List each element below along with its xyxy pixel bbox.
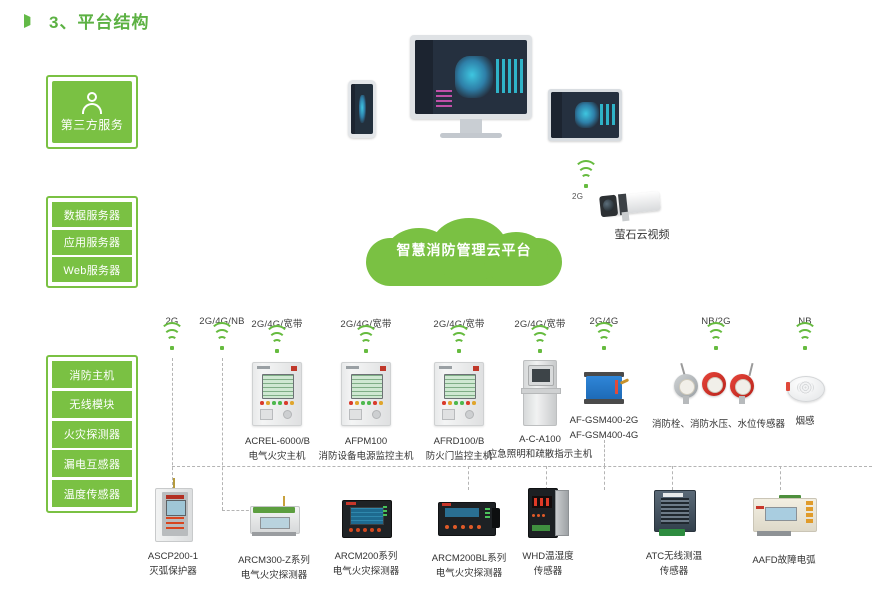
camera-network-label: 2G (572, 192, 583, 201)
top-column-afgsm400[interactable]: 2G/4G AF-GSM400-2G AF-GSM400-4G (562, 316, 646, 443)
dinrail-device-icon (232, 502, 316, 536)
page-title: 3、平台结构 (24, 8, 149, 33)
device-name: 传感器 (644, 564, 704, 579)
page-title-text: 3、平台结构 (49, 8, 149, 33)
cabinet-icon (422, 362, 496, 426)
top-column-2: 2G/4G/NB (196, 316, 248, 350)
third-party-inner: 第三方服务 (52, 81, 132, 143)
smartphone-mockup (348, 80, 376, 138)
device-name: 消防栓、消防水压、水位传感器 (652, 417, 780, 432)
connector-line-col7 (604, 440, 605, 466)
cctv-camera-icon (603, 191, 661, 216)
arrow-right-icon (24, 14, 39, 28)
top-column-afrd100[interactable]: 2G/4G/宽带 AFRD100/B 防火门监控主机 (422, 316, 496, 464)
camera-label: 萤石云视频 (572, 226, 712, 242)
camera-mount (622, 212, 630, 222)
top-column-smoke[interactable]: NB 烟感 (776, 316, 834, 429)
device-name: 防火门监控主机 (422, 449, 496, 464)
device-model: ASCP200-1 (140, 549, 206, 564)
device-type-wireless-module[interactable]: 无线模块 (52, 391, 132, 418)
devices-mockup (330, 35, 610, 170)
cabinet-icon (310, 362, 422, 426)
connector-drop-atc (672, 466, 673, 490)
server-item-data[interactable]: 数据服务器 (52, 202, 132, 227)
ezviz-camera-group: 2G 萤石云视频 (572, 188, 712, 240)
device-type-fire-detector[interactable]: 火灾探测器 (52, 421, 132, 448)
device-name: 电气火灾主机 (245, 449, 309, 464)
smoke-detector-icon (776, 374, 834, 402)
user-icon (82, 92, 102, 114)
device-type-temperature-sensor[interactable]: 温度传感器 (52, 480, 132, 507)
device-model: ATC无线测温 (644, 549, 704, 564)
wifi-icon (422, 336, 496, 353)
third-party-service-box[interactable]: 第三方服务 (46, 75, 138, 149)
wifi-icon (652, 333, 780, 350)
bottom-column-aafd[interactable]: AAFD故障电弧 (748, 488, 820, 568)
connector-drop-aafd (780, 466, 781, 490)
device-name: 电气火灾探测器 (428, 566, 510, 581)
device-name: 传感器 (518, 564, 578, 579)
bottom-column-ascp200[interactable]: ASCP200-1 灭弧保护器 (140, 488, 206, 579)
wifi-icon (148, 333, 196, 350)
wifi-icon (310, 336, 422, 353)
whd-device-icon (518, 488, 578, 536)
aafd-device-icon (748, 494, 820, 534)
device-model: AAFD故障电弧 (748, 553, 820, 568)
device-model-alt: AF-GSM400-4G (562, 428, 646, 443)
device-model: WHD温湿度 (518, 549, 578, 564)
device-model: ARCM300-Z系列 (232, 553, 316, 568)
device-name: 电气火灾探测器 (330, 564, 402, 579)
imac-dashboard-mockup (410, 35, 532, 145)
device-name: 电气火灾探测器 (232, 568, 316, 583)
device-name: 应急照明和疏散指示主机 (486, 447, 594, 462)
device-name: 消防设备电源监控主机 (310, 449, 422, 464)
device-model: AFPM100 (310, 434, 422, 449)
device-name: 烟感 (776, 414, 834, 429)
top-column-water-sensors[interactable]: NB/2G 消防栓、消防水压、水位传感器 (652, 316, 780, 432)
bottom-column-arcm300z[interactable]: ARCM300-Z系列 电气火灾探测器 (232, 492, 316, 583)
device-model: ARCM200BL系列 (428, 551, 510, 566)
wifi-icon (562, 333, 646, 350)
bottom-column-arcm200[interactable]: ARCM200系列 电气火灾探测器 (330, 492, 402, 579)
server-item-application[interactable]: 应用服务器 (52, 230, 132, 255)
connector-line-col1 (172, 358, 173, 490)
server-stack-box: 数据服务器 应用服务器 Web服务器 (46, 196, 138, 288)
device-type-box: 消防主机 无线模块 火灾探测器 漏电互感器 温度传感器 (46, 355, 138, 513)
bottom-column-arcm200bl[interactable]: ARCM200BL系列 电气火灾探测器 (428, 492, 510, 581)
device-model: AF-GSM400-2G (562, 413, 646, 428)
connector-drop-arcm200 (468, 466, 469, 490)
connector-drop-whd (546, 466, 547, 490)
cloud-platform-shape: 智慧消防管理云平台 (366, 218, 562, 286)
device-model: ACREL-6000/B (245, 434, 309, 449)
bottom-column-whd[interactable]: WHD温湿度 传感器 (518, 488, 578, 579)
connector-line-col2 (222, 358, 223, 510)
water-sensor-icon (652, 364, 780, 408)
meter-device-icon (330, 500, 402, 536)
device-model: ARCM200系列 (330, 549, 402, 564)
meter-wide-device-icon (428, 502, 510, 534)
top-column-1: 2G (148, 316, 196, 350)
wifi-icon (776, 333, 834, 350)
cabinet-icon (245, 362, 309, 426)
top-column-acrel6000[interactable]: 2G/4G/宽带 ACREL-6000/B 电气火灾主机 (245, 316, 309, 464)
tablet-mockup (548, 89, 622, 141)
device-type-leakage-transformer[interactable]: 漏电互感器 (52, 450, 132, 477)
top-column-afpm100[interactable]: 2G/4G/宽带 AFPM100 消防设备电源监控主机 (310, 316, 422, 464)
atc-device-icon (644, 490, 704, 536)
cloud-platform-label: 智慧消防管理云平台 (366, 240, 562, 260)
device-type-fire-host[interactable]: 消防主机 (52, 361, 132, 388)
ascp-device-icon (140, 488, 206, 540)
gateway-icon (562, 372, 646, 404)
connector-bus-horizontal (172, 466, 872, 467)
bottom-column-atc[interactable]: ATC无线测温 传感器 (644, 488, 704, 579)
server-item-web[interactable]: Web服务器 (52, 257, 132, 282)
device-model: AFRD100/B (422, 434, 496, 449)
device-name: 灭弧保护器 (140, 564, 206, 579)
wifi-icon (245, 336, 309, 353)
connector-drop-arcm200bl (604, 466, 605, 490)
third-party-label: 第三方服务 (61, 116, 124, 133)
wifi-icon (196, 333, 248, 350)
